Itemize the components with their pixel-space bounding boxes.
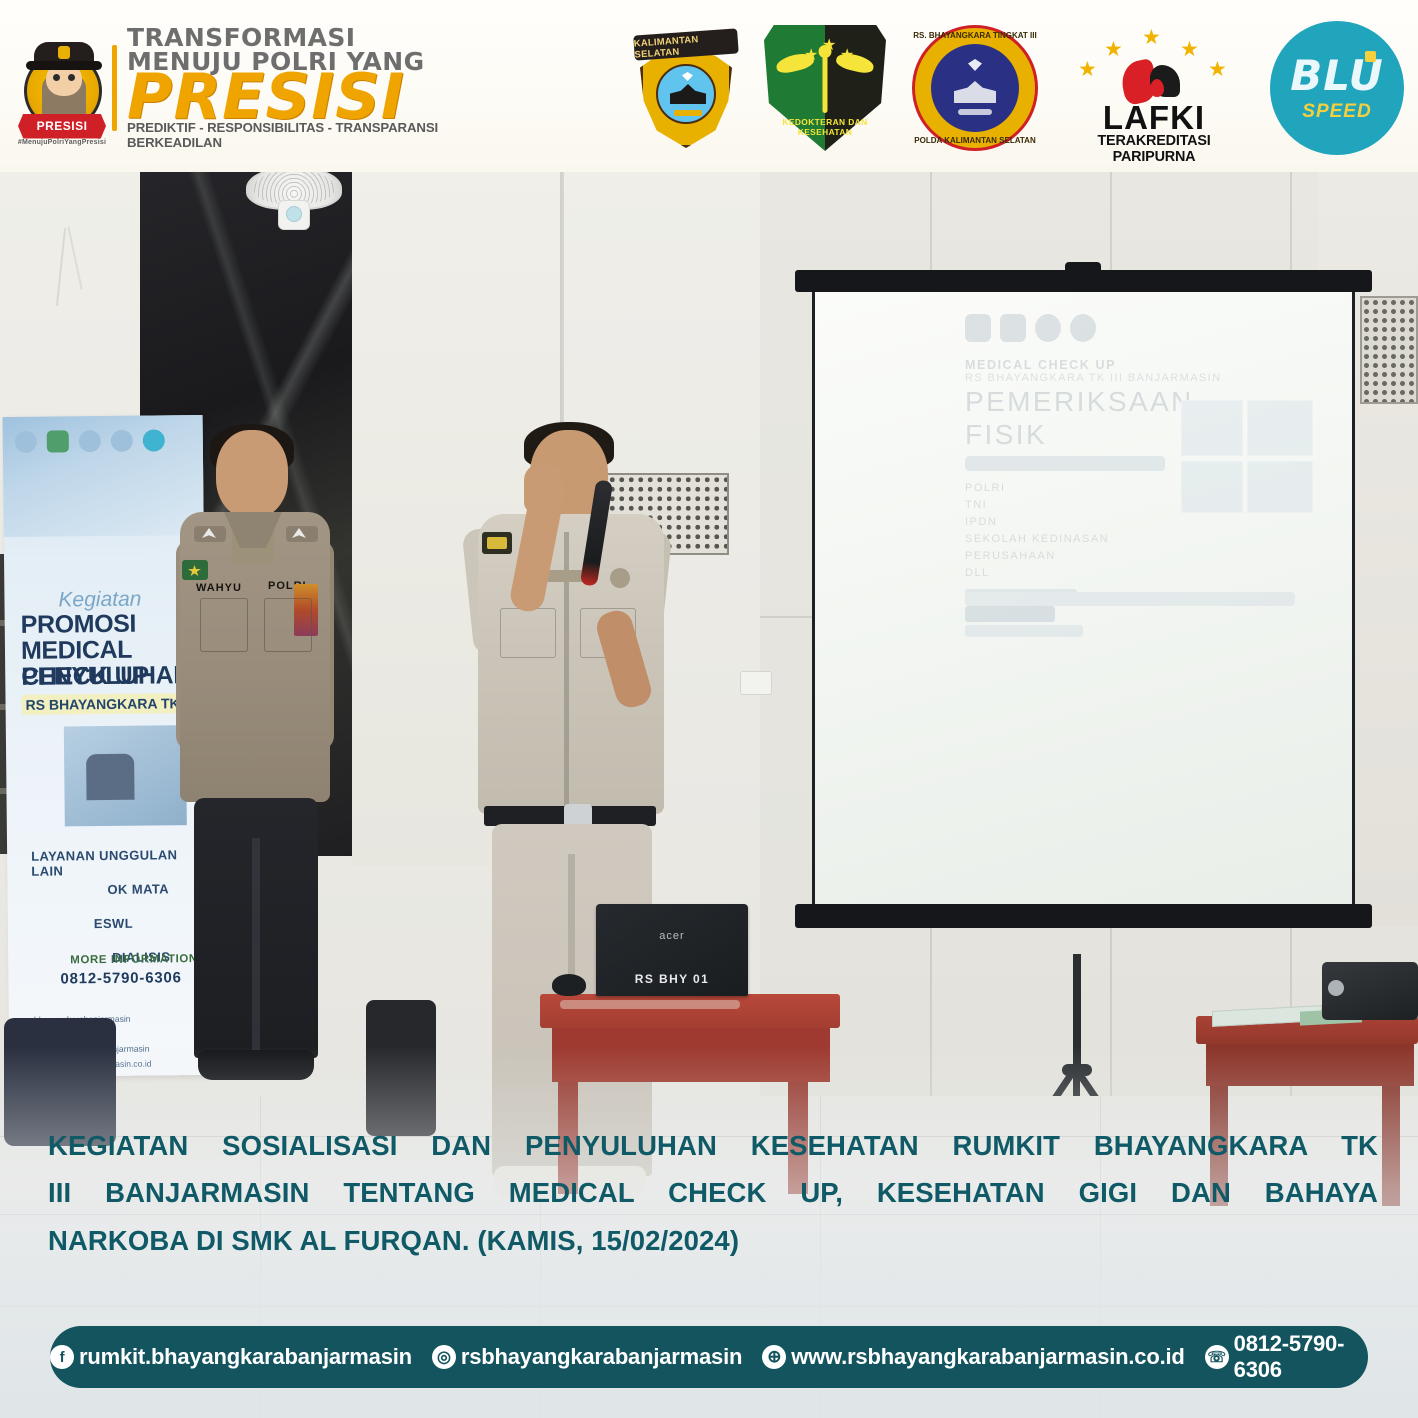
officer-name-tag: WAHYU xyxy=(196,582,242,594)
footer-website-url: www.rsbhayangkarabanjarmasin.co.id xyxy=(791,1344,1184,1370)
footer-phone[interactable]: ☏ 0812-5790-6306 xyxy=(1205,1331,1368,1383)
mouse-icon xyxy=(552,974,586,996)
banner-heading-3: PENYULUHAN xyxy=(21,663,191,690)
footer-website[interactable]: ⊕ www.rsbhayangkarabanjarmasin.co.id xyxy=(762,1344,1184,1370)
laptop-asset-tag: RS BHY 01 xyxy=(596,972,748,986)
header-bar: PRESISI #MenujuPolriYangPresisi TRANSFOR… xyxy=(0,0,1418,172)
wall-outlet-icon xyxy=(740,671,772,695)
presisi-divider xyxy=(112,45,117,131)
banner-phone: 0812-5790-6306 xyxy=(60,969,181,987)
badge-dokkes-label: KEDOKTERAN DAN KESEHATAN xyxy=(764,117,886,137)
badge-rsb-top-label: RS. BHAYANGKARA TINGKAT III xyxy=(912,31,1038,40)
footer-instagram[interactable]: ◎ rsbhayangkarabanjarmasin xyxy=(432,1344,742,1370)
blu-wordmark: BLU xyxy=(1270,51,1404,100)
logo-lafki-icon: ★ ★ ★ ★ ★ LAFKI TERAKREDITASI PARIPURNA xyxy=(1064,23,1244,153)
wall-fan-icon xyxy=(246,166,342,230)
footer-phone-number: 0812-5790-6306 xyxy=(1234,1331,1368,1383)
contact-footer-bar: f rumkit.bhayangkarabanjarmasin ◎ rsbhay… xyxy=(50,1326,1368,1388)
mascot-ribbon-label: PRESISI xyxy=(37,119,88,133)
globe-icon: ⊕ xyxy=(762,1345,786,1369)
screen-tripod-column xyxy=(1073,954,1081,1072)
badge-kalsel-ribbon-label: KALIMANTAN SELATAN xyxy=(633,30,738,59)
lafki-subtitle: TERAKREDITASI PARIPURNA xyxy=(1064,133,1244,165)
slide-item: PERUSAHAAN xyxy=(965,548,1325,565)
footer-instagram-handle: rsbhayangkarabanjarmasin xyxy=(461,1344,742,1370)
instagram-icon: ◎ xyxy=(432,1345,456,1369)
presisi-mascot-icon: PRESISI #MenujuPolriYangPresisi xyxy=(16,26,108,151)
logo-blu-speed-icon: BLU SPEED xyxy=(1270,21,1404,155)
mascot-hashtag: #MenujuPolriYangPresisi xyxy=(16,139,108,146)
banner-heading-1: PROMOSI xyxy=(21,612,137,639)
presisi-wordmark: PRESISI xyxy=(127,71,466,123)
badge-kedokteran-dan-kesehatan-icon: ★ ★ ★ KEDOKTERAN DAN KESEHATAN xyxy=(764,23,886,153)
laptop-brand-label: acer xyxy=(596,930,748,942)
fan-cord-secondary xyxy=(67,226,82,289)
lafki-title: LAFKI xyxy=(1064,101,1244,134)
mascot-ribbon: PRESISI xyxy=(18,114,106,139)
slide-heading-small-2: RS BHAYANGKARA TK III BANJARMASIN xyxy=(965,372,1325,384)
speaker-shoulder-patch-icon xyxy=(482,532,512,554)
presisi-lockup: PRESISI #MenujuPolriYangPresisi TRANSFOR… xyxy=(16,22,466,154)
caption-block: KEGIATAN SOSIALISASI DAN PENYULUHAN KESE… xyxy=(48,1122,1378,1264)
phone-icon: ☏ xyxy=(1205,1345,1229,1369)
slide-item: DLL xyxy=(965,565,1325,582)
caption-line-3: NARKOBA DI SMK AL FURQAN. (KAMIS, 15/02/… xyxy=(48,1217,1378,1264)
slide-heading-small-1: MEDICAL CHECK UP xyxy=(965,358,1325,372)
footer-facebook-handle: rumkit.bhayangkarabanjarmasin xyxy=(79,1344,412,1370)
projector-lens-icon xyxy=(1328,980,1344,996)
projector-device xyxy=(1322,962,1418,1020)
poster-root: PRESISI #MenujuPolriYangPresisi TRANSFOR… xyxy=(0,0,1418,1418)
badge-rsb-bottom-label: POLDA KALIMANTAN SELATAN xyxy=(912,136,1038,145)
slide-item: SEKOLAH KEDINASAN xyxy=(965,531,1325,548)
banner-service-1: OK MATA xyxy=(107,881,169,897)
banner-subtitle: RS BHAYANGKARA TK III xyxy=(21,693,199,715)
blu-speed-label: SPEED xyxy=(1270,101,1404,123)
banner-service-2: ESWL xyxy=(94,916,133,931)
footer-facebook[interactable]: f rumkit.bhayangkarabanjarmasin xyxy=(50,1344,412,1370)
badge-kalimantan-selatan-icon: KALIMANTAN SELATAN xyxy=(634,24,738,152)
laptop-device: acer RS BHY 01 xyxy=(596,904,748,996)
floor-bag-center xyxy=(366,1000,436,1136)
caption-line-2: III BANJARMASIN TENTANG MEDICAL CHECK UP… xyxy=(48,1169,1378,1216)
slide-content: MEDICAL CHECK UP RS BHAYANGKARA TK III B… xyxy=(965,314,1325,584)
person-officer-wahyu: WAHYU POLRI xyxy=(176,430,336,1130)
facebook-icon: f xyxy=(50,1345,74,1369)
badge-rs-bhayangkara-icon: RS. BHAYANGKARA TINGKAT III POLDA KALIMA… xyxy=(912,25,1038,151)
presisi-tagline: PREDIKTIF - RESPONSIBILITAS - TRANSPARAN… xyxy=(127,120,466,150)
presisi-text-block: TRANSFORMASI MENUJU POLRI YANG PRESISI P… xyxy=(127,26,466,150)
fan-cord xyxy=(56,228,66,306)
officer-shoulder-patch-icon xyxy=(182,560,208,580)
caption-line-1: KEGIATAN SOSIALISASI DAN PENYULUHAN KESE… xyxy=(48,1122,1378,1169)
emblem-row: KALIMANTAN SELATAN ★ ★ ★ KEDOKTERAN DAN … xyxy=(634,20,1404,156)
projection-screen: MEDICAL CHECK UP RS BHAYANGKARA TK III B… xyxy=(795,270,1372,954)
